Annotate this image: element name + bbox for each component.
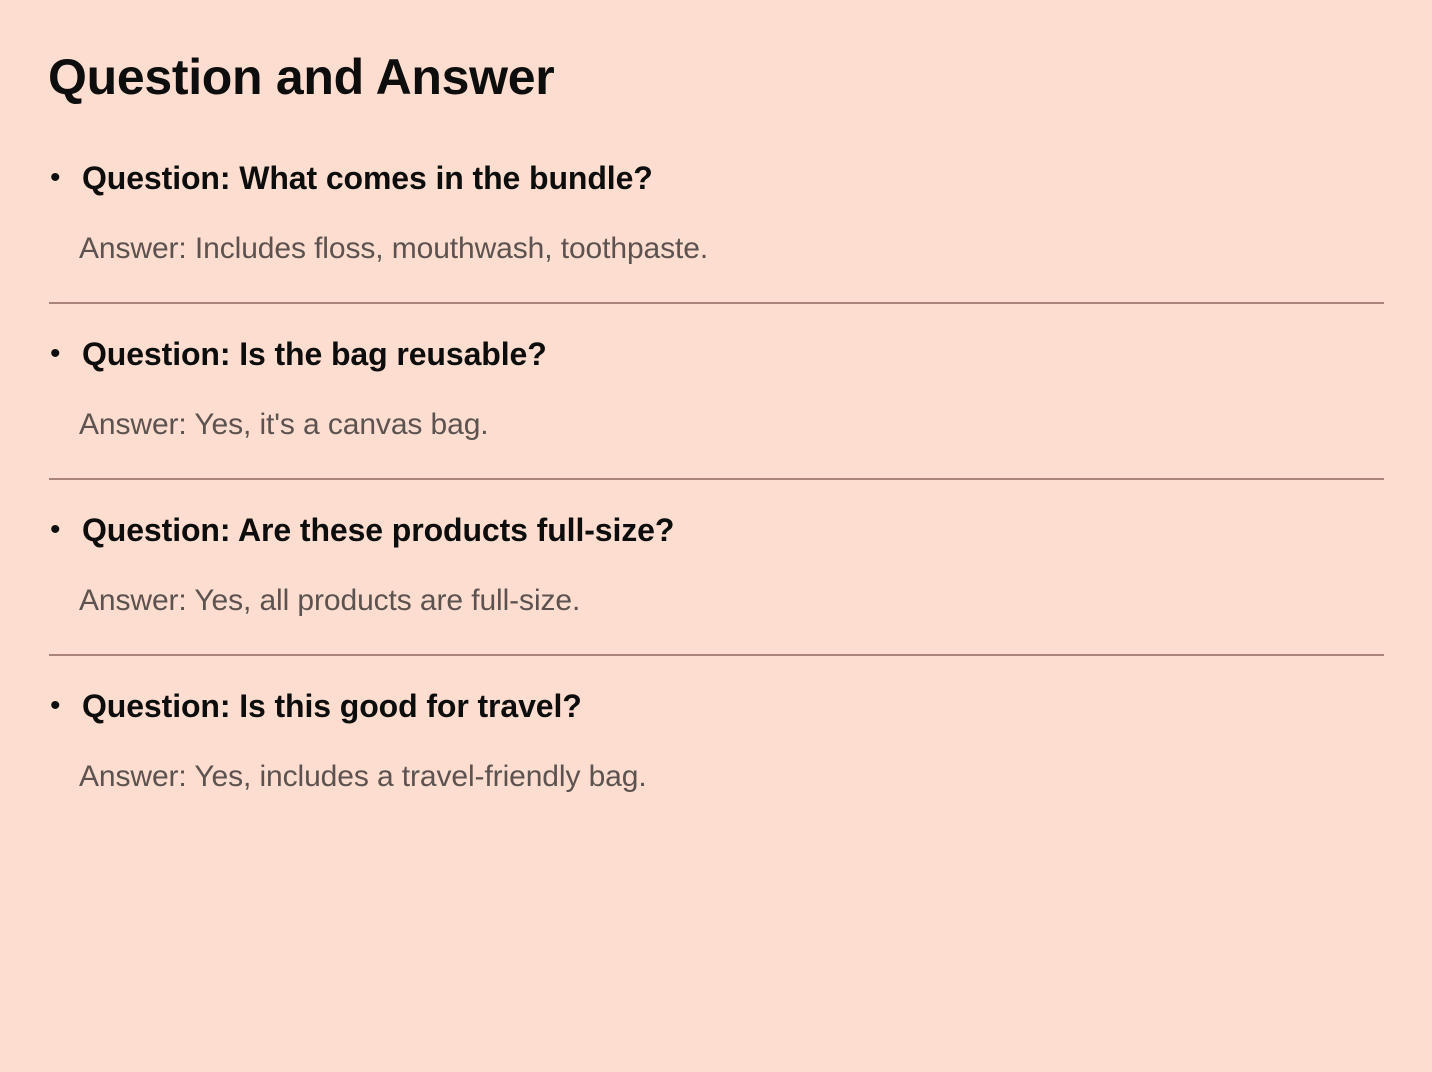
qa-answer: Answer: Yes, includes a travel-friendly … <box>48 728 1384 797</box>
qa-question: Question: What comes in the bundle? <box>82 156 653 200</box>
qa-question-row: • Question: Are these products full-size… <box>48 480 1384 552</box>
bullet-icon: • <box>48 156 82 200</box>
qa-answer: Answer: Includes floss, mouthwash, tooth… <box>48 200 1384 269</box>
qa-item: • Question: Are these products full-size… <box>48 480 1384 656</box>
page-title: Question and Answer <box>48 0 1384 107</box>
qa-list: • Question: What comes in the bundle? An… <box>48 107 1384 797</box>
qa-question: Question: Is this good for travel? <box>82 684 582 728</box>
qa-item: • Question: What comes in the bundle? An… <box>48 128 1384 304</box>
qa-question: Question: Is the bag reusable? <box>82 332 547 376</box>
bullet-icon: • <box>48 684 82 728</box>
qa-item: • Question: Is this good for travel? Ans… <box>48 656 1384 797</box>
qa-question-row: • Question: Is this good for travel? <box>48 656 1384 728</box>
bullet-icon: • <box>48 332 82 376</box>
qa-question-row: • Question: Is the bag reusable? <box>48 304 1384 376</box>
qa-page: Question and Answer • Question: What com… <box>0 0 1432 1072</box>
qa-answer: Answer: Yes, all products are full-size. <box>48 552 1384 621</box>
qa-item: • Question: Is the bag reusable? Answer:… <box>48 304 1384 480</box>
qa-answer: Answer: Yes, it's a canvas bag. <box>48 376 1384 445</box>
bullet-icon: • <box>48 508 82 552</box>
qa-question-row: • Question: What comes in the bundle? <box>48 128 1384 200</box>
qa-question: Question: Are these products full-size? <box>82 508 674 552</box>
